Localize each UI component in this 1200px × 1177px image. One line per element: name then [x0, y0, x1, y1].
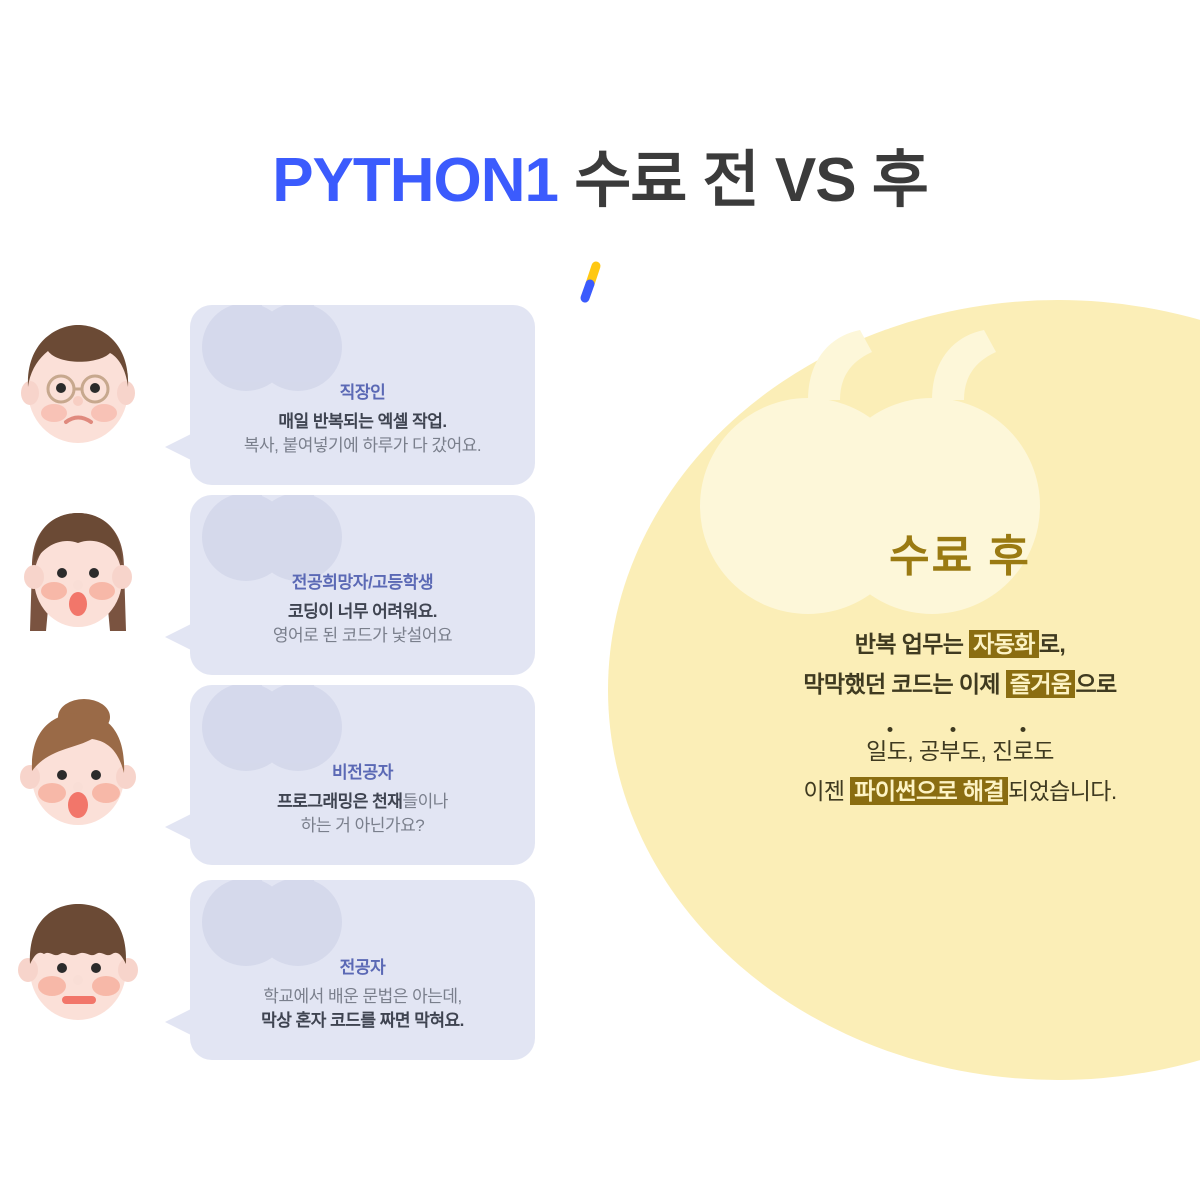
after-content: 수료 후 반복 업무는 자동화로, 막막했던 코드는 이제 즐거움으로 일도, … [700, 520, 1200, 811]
bubble-text: 전공자 학교에서 배운 문법은 아는데, 막상 혼자 코드를 짜면 막혀요. [190, 953, 535, 1034]
long-hair-girl-surprised-avatar [14, 507, 142, 647]
after-line-2-prefix: 막막했던 코드는 이제 [803, 671, 1005, 697]
list-item: 비전공자 프로그래밍은 천재들이나 하는 거 아닌가요? [0, 685, 560, 870]
bubble-line-1: 코딩이 너무 어려워요. [208, 600, 517, 625]
bubble-line-2: 막상 혼자 코드를 짜면 막혀요. [208, 1009, 517, 1034]
bubble-role: 비전공자 [208, 758, 517, 783]
bubble-line-1-bold: 프로그래밍은 천재 [277, 792, 402, 811]
man-with-glasses-frowning-avatar [14, 317, 142, 457]
pen-stroke-icon [578, 260, 602, 306]
after-line-3-word-2: 공부도, [919, 738, 986, 764]
bubble-tail [165, 1008, 193, 1036]
list-item: 직장인 매일 반복되는 엑셀 작업. 복사, 붙여넣기에 하루가 다 갔어요. [0, 305, 560, 490]
page-title: PYTHON1 수료 전 VS 후 [0, 150, 1200, 212]
bubble-text: 비전공자 프로그래밍은 천재들이나 하는 거 아닌가요? [190, 758, 535, 839]
bubble-role: 전공희망자/고등학생 [208, 568, 517, 593]
title-brand: PYTHON1 [272, 146, 558, 215]
list-item: 전공자 학교에서 배운 문법은 아는데, 막상 혼자 코드를 짜면 막혀요. [0, 880, 560, 1065]
bubble-line-1: 학교에서 배운 문법은 아는데, [208, 985, 517, 1010]
after-title: 수료 후 [700, 520, 1200, 584]
after-line-1-prefix: 반복 업무는 [855, 631, 969, 657]
after-line-2: 막막했던 코드는 이제 즐거움으로 [700, 664, 1200, 704]
bubble-text: 직장인 매일 반복되는 엑셀 작업. 복사, 붙여넣기에 하루가 다 갔어요. [190, 378, 535, 459]
bubble-tail [165, 813, 193, 841]
woman-with-bun-surprised-avatar [14, 697, 142, 837]
bubble-line-1: 매일 반복되는 엑셀 작업. [208, 410, 517, 435]
after-line-2-suffix: 으로 [1075, 671, 1116, 697]
bubble-major: 전공자 학교에서 배운 문법은 아는데, 막상 혼자 코드를 짜면 막혀요. [190, 880, 535, 1060]
bubble-role: 직장인 [208, 378, 517, 403]
after-line-3: 일도, 공부도, 진로도 [700, 731, 1200, 771]
after-line-4-prefix: 이젠 [803, 778, 850, 804]
after-line-4-suffix: 되었습니다. [1008, 778, 1117, 804]
after-line-1: 반복 업무는 자동화로, [700, 624, 1200, 664]
bubble-tail [165, 433, 193, 461]
bubble-aspirant: 전공희망자/고등학생 코딩이 너무 어려워요. 영어로 된 코드가 낯설어요 [190, 495, 535, 675]
after-line-4: 이젠 파이썬으로 해결되었습니다. [700, 771, 1200, 811]
after-line-3-word-3: 진로도 [992, 738, 1054, 764]
after-line-3-word-1: 일도, [866, 738, 913, 764]
after-line-2-highlight: 즐거움 [1006, 670, 1076, 698]
bubble-non-major: 비전공자 프로그래밍은 천재들이나 하는 거 아닌가요? [190, 685, 535, 865]
bowl-cut-boy-neutral-avatar [14, 892, 142, 1032]
bubble-worker: 직장인 매일 반복되는 엑셀 작업. 복사, 붙여넣기에 하루가 다 갔어요. [190, 305, 535, 485]
bubble-line-2: 복사, 붙여넣기에 하루가 다 갔어요. [208, 434, 517, 459]
bubble-text: 전공희망자/고등학생 코딩이 너무 어려워요. 영어로 된 코드가 낯설어요 [190, 568, 535, 649]
bubble-line-1: 프로그래밍은 천재들이나 [208, 790, 517, 815]
after-line-1-highlight: 자동화 [969, 630, 1039, 658]
bubble-role: 전공자 [208, 953, 517, 978]
after-line-4-highlight: 파이썬으로 해결 [850, 777, 1008, 805]
bubble-line-2: 영어로 된 코드가 낯설어요 [208, 624, 517, 649]
list-item: 전공희망자/고등학생 코딩이 너무 어려워요. 영어로 된 코드가 낯설어요 [0, 495, 560, 680]
bubble-tail [165, 623, 193, 651]
title-rest: 수료 전 VS 후 [574, 146, 928, 215]
poster-canvas: PYTHON1 수료 전 VS 후 수료 후 반복 업무는 자동화로, 막막했던… [0, 0, 1200, 1177]
bubble-line-1-rest: 들이나 [402, 792, 447, 811]
after-line-1-suffix: 로, [1039, 631, 1065, 657]
bubble-line-2: 하는 거 아닌가요? [208, 814, 517, 839]
